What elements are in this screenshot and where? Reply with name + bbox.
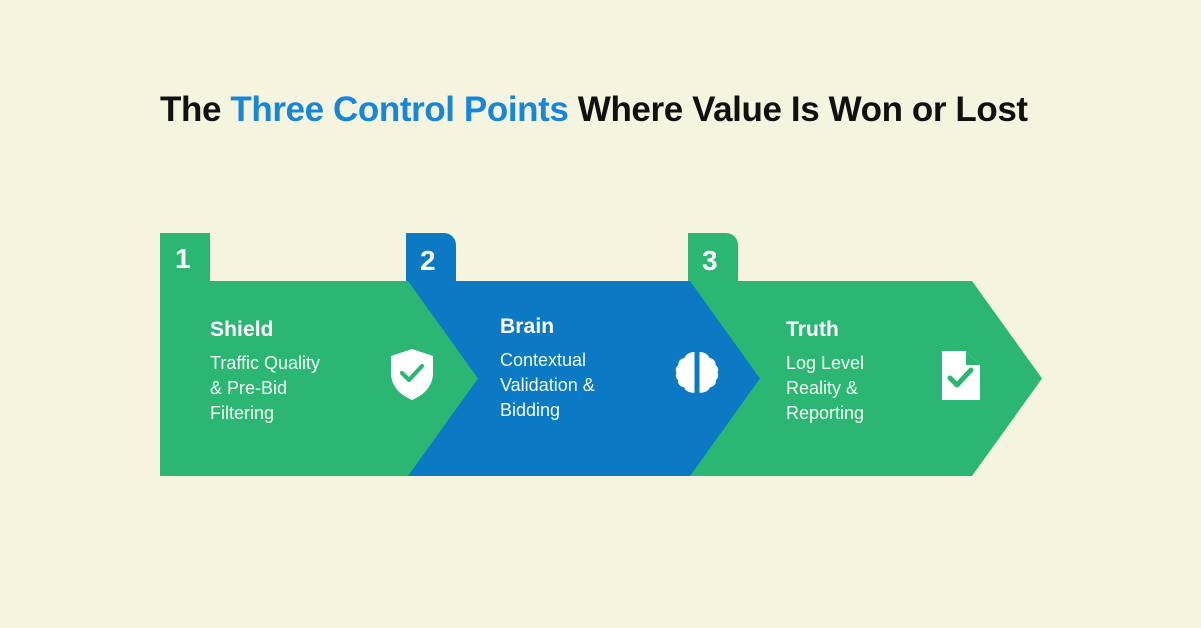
step-description-2: Contextual Validation & Bidding xyxy=(500,348,675,423)
infographic-canvas: The Three Control Points Where Value Is … xyxy=(0,0,1201,628)
step-content-1: Shield Traffic Quality & Pre-Bid Filteri… xyxy=(210,318,385,426)
step-badge-number-3: 3 xyxy=(702,247,718,275)
step-content-3: Truth Log Level Reality & Reporting xyxy=(786,318,961,426)
step-description-1: Traffic Quality & Pre-Bid Filtering xyxy=(210,351,385,426)
step-content-2: Brain Contextual Validation & Bidding xyxy=(500,315,675,423)
process-arrow-diagram xyxy=(0,0,1201,628)
step-badge-number-2: 2 xyxy=(420,247,436,275)
step-description-3: Log Level Reality & Reporting xyxy=(786,351,961,426)
step-title-2: Brain xyxy=(500,315,675,339)
step-badge-number-1: 1 xyxy=(175,245,191,273)
step-title-3: Truth xyxy=(786,318,961,342)
step-title-1: Shield xyxy=(210,318,385,342)
